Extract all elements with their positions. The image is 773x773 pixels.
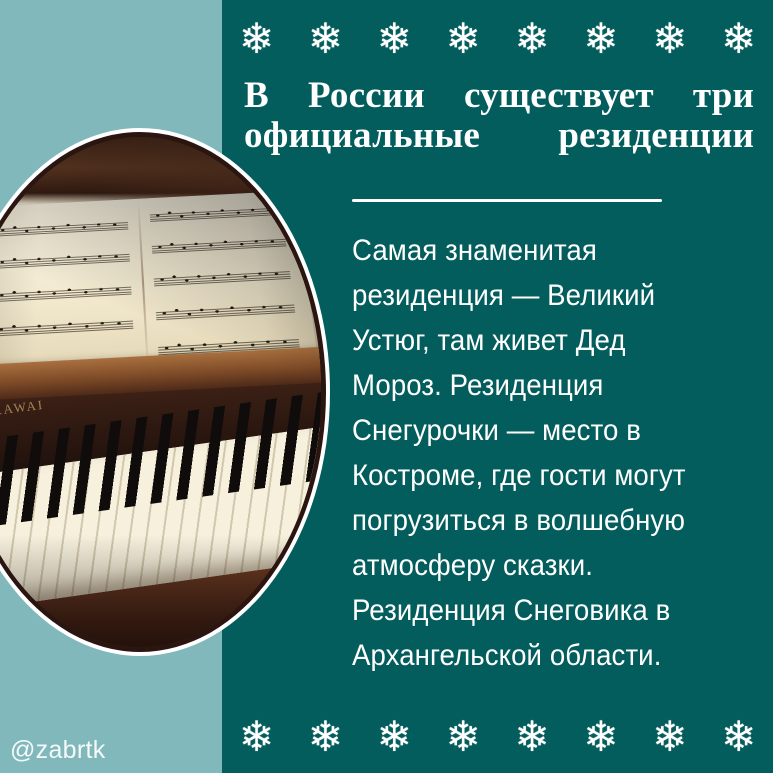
body-paragraph: Самая знаменитая резиденция — Великий Ус… bbox=[352, 228, 713, 678]
photo-vignette bbox=[0, 137, 321, 647]
piano-photo-art: KAWAI bbox=[0, 137, 321, 647]
piano-photo: KAWAI bbox=[0, 137, 321, 647]
title-divider bbox=[352, 199, 662, 202]
title-line-1: В России существует три bbox=[244, 76, 754, 116]
piano-photo-frame: KAWAI bbox=[0, 128, 330, 656]
poster-canvas: ❄ ❄ ❄ ❄ ❄ ❄ ❄ ❄ В России существует три … bbox=[0, 0, 773, 773]
watermark-handle: @zabrtk bbox=[10, 736, 106, 765]
